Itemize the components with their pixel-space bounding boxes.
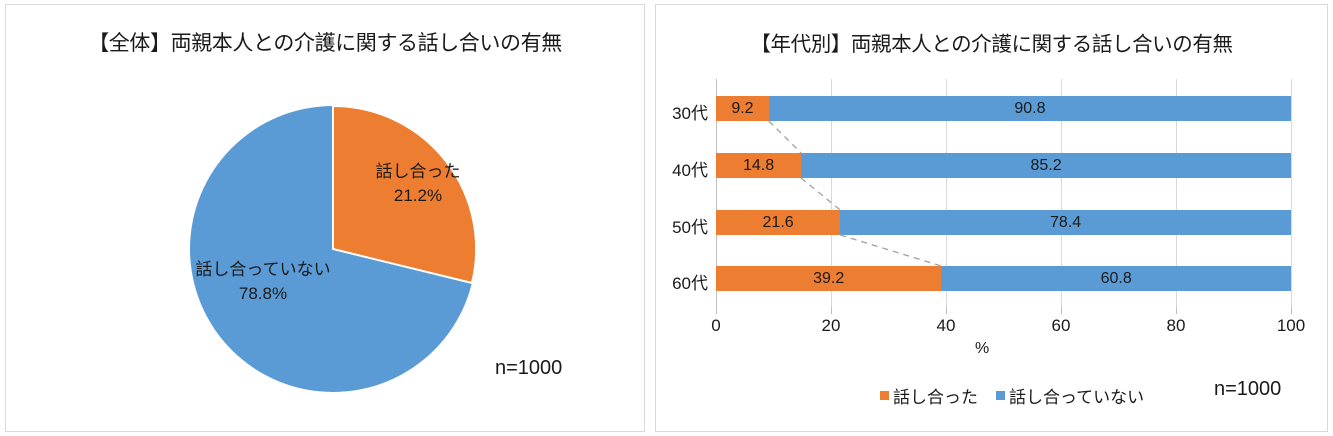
pie-label-yes: 話し合った 21.2% [358, 160, 478, 208]
pie-label-no-value: 78.8% [178, 282, 348, 306]
bar-segment-no: 90.8 [769, 96, 1291, 121]
x-tick-0 [716, 307, 717, 314]
legend-item[interactable]: 話し合った [880, 383, 978, 408]
pie-graphic [187, 103, 479, 395]
x-tick-100 [1291, 307, 1292, 314]
pie-label-no: 話し合っていない 78.8% [178, 258, 348, 306]
bar-segment-yes: 9.2 [716, 96, 769, 121]
bar-segment-no: 60.8 [941, 266, 1291, 291]
bar-chart-legend: 話し合った話し合っていない [880, 383, 1144, 408]
pie-chart-panel: 【全体】両親本人との介護に関する話し合いの有無 話し合った 21.2% 話し合っ… [5, 4, 645, 432]
legend-item[interactable]: 話し合っていない [996, 383, 1144, 408]
x-tick-40 [946, 307, 947, 314]
chart-figure: 【全体】両親本人との介護に関する話し合いの有無 話し合った 21.2% 話し合っ… [0, 0, 1333, 436]
pie-label-no-name: 話し合っていない [178, 258, 348, 282]
legend-label: 話し合っていない [1009, 383, 1144, 408]
bar-row: 9.290.8 [716, 96, 1291, 121]
bar-segment-yes: 14.8 [716, 153, 801, 178]
bar-chart-plot-area: 9.290.814.885.221.678.439.260.8 [716, 79, 1291, 307]
x-tick-80 [1176, 307, 1177, 314]
pie-svg [187, 103, 479, 395]
legend-swatch-icon [880, 391, 889, 400]
pie-chart-title: 【全体】両親本人との介護に関する話し合いの有無 [6, 27, 644, 57]
x-tick-label-80: 80 [1146, 316, 1206, 336]
x-tick-label-0: 0 [686, 316, 746, 336]
bar-row: 14.885.2 [716, 153, 1291, 178]
x-tick-label-40: 40 [916, 316, 976, 336]
bar-segment-no: 78.4 [840, 210, 1291, 235]
x-tick-20 [831, 307, 832, 314]
bar-sample-size-label: n=1000 [1214, 378, 1281, 401]
x-tick-label-60: 60 [1031, 316, 1091, 336]
x-tick-label-100: 100 [1261, 316, 1321, 336]
gridline-100 [1291, 79, 1292, 307]
legend-label: 話し合った [893, 383, 978, 408]
x-axis-unit-label: % [975, 340, 989, 358]
category-label-50代: 50代 [654, 213, 708, 238]
bar-chart-title: 【年代別】両親本人との介護に関する話し合いの有無 [656, 27, 1327, 57]
pie-label-yes-value: 21.2% [358, 184, 478, 208]
bar-segment-no: 85.2 [801, 153, 1291, 178]
legend-swatch-icon [996, 391, 1005, 400]
category-label-60代: 60代 [654, 269, 708, 294]
pie-sample-size-label: n=1000 [495, 357, 562, 380]
x-tick-60 [1061, 307, 1062, 314]
bar-row: 39.260.8 [716, 266, 1291, 291]
bar-segment-yes: 21.6 [716, 210, 840, 235]
bar-row: 21.678.4 [716, 210, 1291, 235]
x-tick-label-20: 20 [801, 316, 861, 336]
category-label-30代: 30代 [654, 99, 708, 124]
pie-label-yes-name: 話し合った [358, 160, 478, 184]
category-label-40代: 40代 [654, 156, 708, 181]
bar-segment-yes: 39.2 [716, 266, 941, 291]
